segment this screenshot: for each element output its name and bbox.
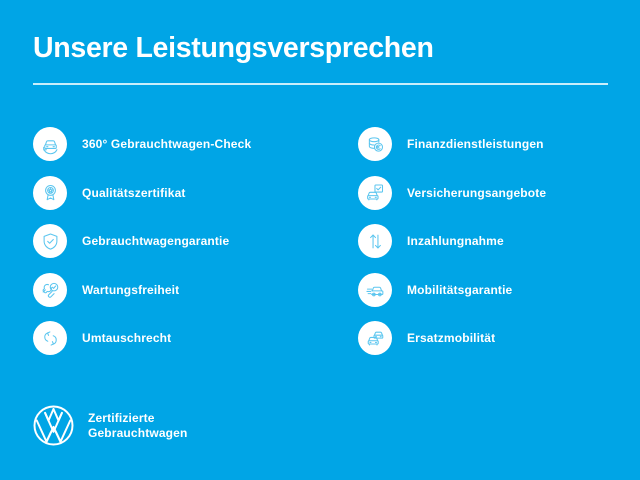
benefit-item-financial-services[interactable]: Finanzdienstleistungen: [358, 127, 640, 161]
benefit-item-insurance-offers[interactable]: Versicherungsangebote: [358, 176, 640, 210]
title-divider: [33, 83, 608, 85]
benefit-label: Ersatzmobilität: [407, 331, 495, 345]
two-cars-icon: [358, 321, 392, 355]
exchange-arrows-icon: [33, 321, 67, 355]
benefit-item-exchange-right[interactable]: Umtauschrecht: [33, 321, 333, 355]
benefit-label: Umtauschrecht: [82, 331, 171, 345]
benefits-column-right: Finanzdienstleistungen Versicherungsange…: [358, 127, 640, 370]
brand-lockup: Zertifizierte Gebrauchtwagen: [32, 404, 187, 447]
shield-check-icon: [33, 224, 67, 258]
award-rosette-icon: [33, 176, 67, 210]
benefit-item-mobility-guarantee[interactable]: Mobilitätsgarantie: [358, 273, 640, 307]
brand-text: Zertifizierte Gebrauchtwagen: [88, 411, 187, 441]
benefit-item-maintenance-free[interactable]: Wartungsfreiheit: [33, 273, 333, 307]
benefits-slide: Unsere Leistungsversprechen 360° Gebrauc…: [0, 0, 640, 480]
benefit-label: Wartungsfreiheit: [82, 283, 179, 297]
benefit-label: Inzahlungnahme: [407, 234, 504, 248]
benefit-label: 360° Gebrauchtwagen-Check: [82, 137, 251, 151]
benefit-label: Mobilitätsgarantie: [407, 283, 512, 297]
brand-line-1: Zertifizierte: [88, 411, 187, 426]
benefit-item-quality-certificate[interactable]: Qualitätszertifikat: [33, 176, 333, 210]
benefit-label: Gebrauchtwagengarantie: [82, 234, 229, 248]
benefit-item-warranty[interactable]: Gebrauchtwagengarantie: [33, 224, 333, 258]
car-document-check-icon: [358, 176, 392, 210]
benefit-item-trade-in[interactable]: Inzahlungnahme: [358, 224, 640, 258]
wrench-check-icon: [33, 273, 67, 307]
coins-euro-icon: [358, 127, 392, 161]
car-360-check-icon: [33, 127, 67, 161]
arrows-up-down-icon: [358, 224, 392, 258]
volkswagen-logo: [32, 404, 75, 447]
benefit-item-360-check[interactable]: 360° Gebrauchtwagen-Check: [33, 127, 333, 161]
benefits-column-left: 360° Gebrauchtwagen-Check Qualitätszerti…: [33, 127, 333, 370]
benefit-label: Qualitätszertifikat: [82, 186, 186, 200]
brand-line-2: Gebrauchtwagen: [88, 426, 187, 441]
benefit-label: Versicherungsangebote: [407, 186, 546, 200]
benefit-label: Finanzdienstleistungen: [407, 137, 544, 151]
page-title: Unsere Leistungsversprechen: [33, 31, 434, 65]
car-motion-icon: [358, 273, 392, 307]
benefit-item-replacement-mobility[interactable]: Ersatzmobilität: [358, 321, 640, 355]
